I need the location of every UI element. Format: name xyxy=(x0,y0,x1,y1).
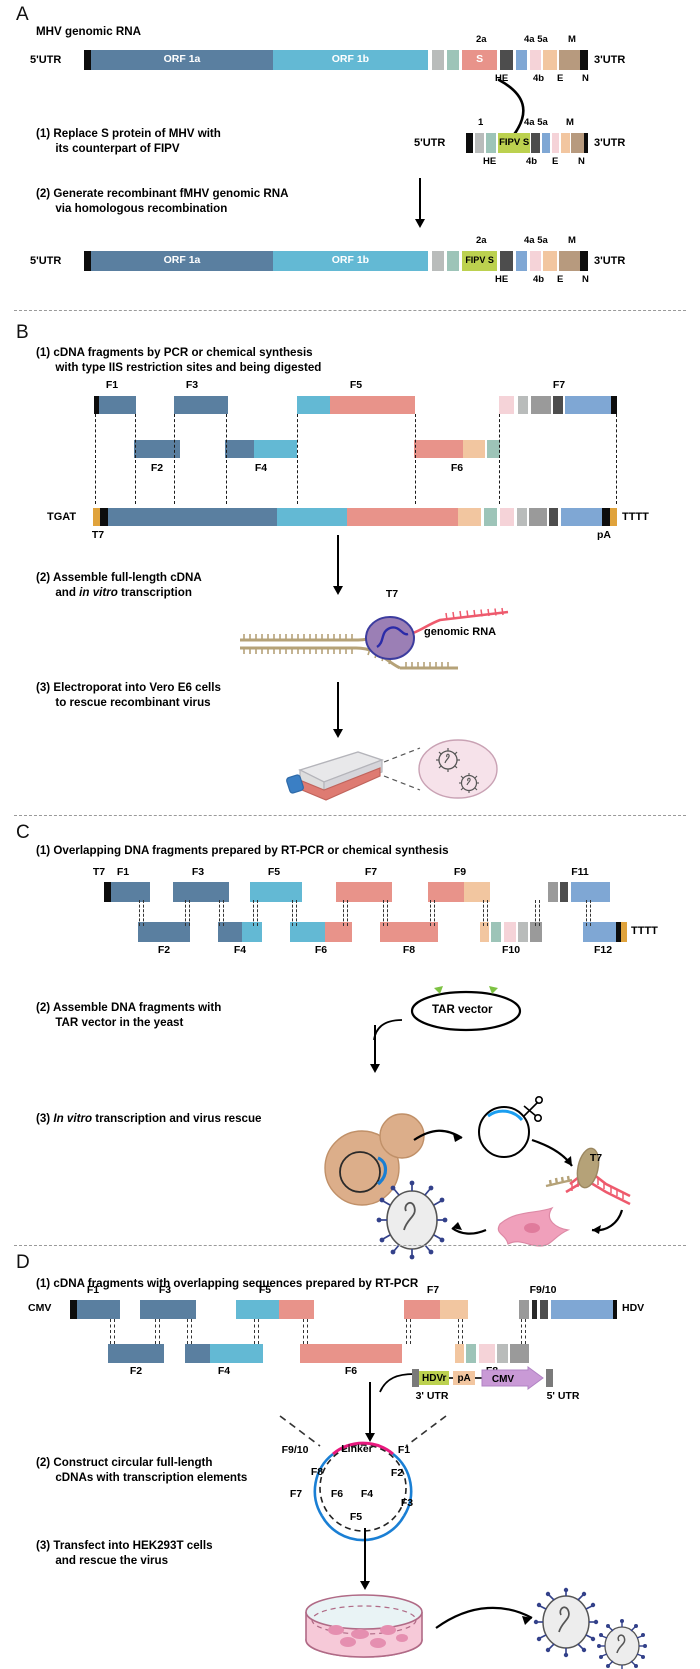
c-overlap-dash xyxy=(483,900,484,926)
c-overlap-dash xyxy=(343,900,344,926)
a-top-utr5: 5'UTR xyxy=(30,54,61,66)
figure-root: A MHV genomic RNA 5'UTR ORF 1a ORF 1b S … xyxy=(0,0,700,1669)
a-fipv-gene-m: M xyxy=(566,117,574,128)
d-overlap-dash xyxy=(254,1319,255,1344)
c-label-f10: F10 xyxy=(497,944,525,956)
b-arrow1-line xyxy=(337,535,339,587)
c-frag-f11 xyxy=(548,882,610,902)
panel-letter-c: C xyxy=(16,822,30,844)
d-circle-f2: F2 xyxy=(386,1467,408,1479)
d-virion-icon xyxy=(534,1588,598,1657)
c-overlap-dash xyxy=(434,900,435,926)
d-overlap-dash xyxy=(458,1319,459,1344)
a-top-utr3: 3'UTR xyxy=(594,54,625,66)
d-overlap-dash xyxy=(303,1319,304,1344)
d-circle-f6: F6 xyxy=(326,1488,348,1500)
a-fipv-gene-he: HE xyxy=(483,156,496,167)
c-overlap-dash xyxy=(223,900,224,926)
d-frag-f9-10 xyxy=(519,1300,617,1319)
b-digest-line xyxy=(415,414,416,504)
c-frag-f5 xyxy=(250,882,302,902)
b-flask-cells-diagram xyxy=(272,738,502,802)
a-bot-gene-e: E xyxy=(557,274,563,285)
c-overlap-dash xyxy=(383,900,384,926)
d-arrow2-line xyxy=(364,1528,366,1582)
a-fipv-s-label: FIPV S xyxy=(498,137,529,148)
a-bot-fipv-s-label: FIPV S xyxy=(462,255,497,265)
c-label-f6: F6 xyxy=(308,944,334,956)
c-overlap-dash xyxy=(185,900,186,926)
d-cassette-3utr: 3' UTR xyxy=(409,1390,455,1402)
b-arrow1-head xyxy=(333,586,343,595)
panel-b-step1: (1) cDNA fragments by PCR or chemical sy… xyxy=(36,345,321,375)
a-bot-gene-he: HE xyxy=(495,274,508,285)
a-bot-gene-4b: 4b xyxy=(533,274,544,285)
c-overlap-dash xyxy=(387,900,388,926)
c-overlap-dash xyxy=(143,900,144,926)
d-label-f7: F7 xyxy=(420,1284,446,1296)
b-tgat-label: TGAT xyxy=(47,511,76,523)
a-fipv-utr5: 5'UTR xyxy=(414,137,445,149)
d-label-f4: F4 xyxy=(211,1365,237,1377)
b-fulllength-cdna xyxy=(93,508,617,526)
a-genome-bar-top: ORF 1a ORF 1b S xyxy=(84,50,588,70)
c-overlap-dash xyxy=(430,900,431,926)
d-overlap-dash xyxy=(155,1319,156,1344)
a-gene-n: N xyxy=(582,73,589,84)
d-circle-f9-10: F9/10 xyxy=(275,1444,315,1456)
a-fipv-bar: FIPV S xyxy=(466,133,588,153)
d-cmv-label: CMV xyxy=(28,1302,51,1314)
d-overlap-dash xyxy=(307,1319,308,1344)
c-overlap-dash xyxy=(535,900,536,926)
b-digest-line xyxy=(95,414,96,504)
a-gene-m: M xyxy=(568,34,576,45)
a-fipv-utr3: 3'UTR xyxy=(594,137,625,149)
b-step2-line2a: and xyxy=(36,586,79,599)
panel-c-step3: (3) In vitro transcription and virus res… xyxy=(36,1111,262,1126)
c-step3-italic: In vitro xyxy=(53,1112,92,1125)
c-label-f3: F3 xyxy=(185,866,211,878)
a-fipv-gene-4a-5a: 4a 5a xyxy=(524,117,548,128)
d-frag-f5 xyxy=(236,1300,314,1319)
b-label-f5: F5 xyxy=(341,379,371,391)
d-label-f2: F2 xyxy=(123,1365,149,1377)
d-cmv-arrow-label: CMV xyxy=(492,1374,515,1385)
d-virion-icon-2 xyxy=(597,1619,647,1669)
c-step3-a: (3) xyxy=(36,1112,53,1125)
host-cell-icon xyxy=(498,1208,568,1246)
a-gene-2a: 2a xyxy=(476,34,487,45)
d-dish-virus-diagram xyxy=(300,1590,640,1664)
d-frag-f2 xyxy=(108,1344,164,1363)
a-swap-curve xyxy=(495,78,565,140)
c-label-f9: F9 xyxy=(447,866,473,878)
a-down-arrow-line xyxy=(419,178,421,220)
a-down-arrow-head xyxy=(415,219,425,228)
a-bot-gene-2a: 2a xyxy=(476,235,487,246)
d-circle-f3: F3 xyxy=(396,1497,418,1509)
a-fipv-gene-1: 1 xyxy=(478,117,483,128)
c-overlap-dash xyxy=(189,900,190,926)
panel-d-step2: (2) Construct circular full-length cDNAs… xyxy=(36,1455,247,1485)
infected-cell-icon xyxy=(419,740,497,798)
b-t7-label: T7 xyxy=(86,529,110,541)
c-tar-curve xyxy=(360,1012,410,1042)
c-label-f7: F7 xyxy=(358,866,384,878)
scissors-icon xyxy=(524,1097,542,1121)
c-t7-label: T7 xyxy=(88,866,110,878)
a-bot-orf1b-label: ORF 1b xyxy=(273,254,429,266)
divider-a-b xyxy=(14,310,686,311)
d-label-f9-10: F9/10 xyxy=(522,1284,564,1296)
d-overlap-dash xyxy=(191,1319,192,1344)
panel-b-step3: (3) Electroporat into Vero E6 cells to r… xyxy=(36,680,221,710)
d-pa-box: pA xyxy=(453,1371,474,1385)
panel-letter-a: A xyxy=(16,4,29,26)
c-overlap-dash xyxy=(257,900,258,926)
c-overlap-dash xyxy=(296,900,297,926)
c-overlap-dash xyxy=(539,900,540,926)
d-label-f1: F1 xyxy=(80,1284,106,1296)
c-tttt-label: TTTT xyxy=(631,925,658,937)
c-frag-f7 xyxy=(336,882,392,902)
c-frag-f10 xyxy=(480,922,542,942)
c-label-f8: F8 xyxy=(396,944,422,956)
b-frag-f5 xyxy=(297,396,415,414)
d-overlap-dash xyxy=(525,1319,526,1344)
plasmid-icon xyxy=(479,1097,542,1157)
d-circle-f7: F7 xyxy=(285,1488,307,1500)
a-fipv-gene-n: N xyxy=(578,156,585,167)
c-overlap-dash xyxy=(253,900,254,926)
panel-a-step2: (2) Generate recombinant fMHV genomic RN… xyxy=(36,186,289,216)
b-label-f4: F4 xyxy=(246,462,276,474)
t7-polymerase-icon xyxy=(366,617,414,659)
c-frag-f4 xyxy=(218,922,262,942)
c-tar-vector-label: TAR vector xyxy=(432,1003,493,1018)
d-circle-f8: F8 xyxy=(306,1466,328,1478)
d-overlap-dash xyxy=(258,1319,259,1344)
b-pa-label: pA xyxy=(592,529,616,541)
c-overlap-dash xyxy=(590,900,591,926)
c-step3-b: transcription and virus rescue xyxy=(92,1112,261,1125)
d-overlap-dash xyxy=(462,1319,463,1344)
d-circle-f5: F5 xyxy=(345,1511,367,1523)
c-label-f12: F12 xyxy=(589,944,617,956)
b-step2-line1: (2) Assemble full-length cDNA xyxy=(36,571,202,584)
b-label-f1: F1 xyxy=(97,379,127,391)
c-label-f11: F11 xyxy=(565,866,595,878)
b-tttt-label: TTTT xyxy=(622,511,649,523)
c-label-f1: F1 xyxy=(110,866,136,878)
c-overlap-dash xyxy=(219,900,220,926)
a-bot-gene-m: M xyxy=(568,235,576,246)
b-frag-f1 xyxy=(94,396,136,414)
a-fipv-gene-e: E xyxy=(552,156,558,167)
d-overlap-dash xyxy=(159,1319,160,1344)
c-t7-poly-label: T7 xyxy=(584,1152,608,1164)
b-digest-line xyxy=(135,414,136,504)
c-overlap-dash xyxy=(586,900,587,926)
d-frag-f7 xyxy=(404,1300,468,1319)
b-arrow2-head xyxy=(333,729,343,738)
d-overlap-dash xyxy=(110,1319,111,1344)
d-cassette-5utr: 5' UTR xyxy=(540,1390,586,1402)
a-bot-orf1a-label: ORF 1a xyxy=(91,254,272,266)
b-label-f3: F3 xyxy=(177,379,207,391)
a-spike-label: S xyxy=(462,53,497,65)
d-hdv-label: HDV xyxy=(622,1302,644,1314)
a-fipv-gene-4b: 4b xyxy=(526,156,537,167)
c-overlap-dash xyxy=(487,900,488,926)
panel-c-step2: (2) Assemble DNA fragments with TAR vect… xyxy=(36,1000,221,1030)
c-label-f4: F4 xyxy=(227,944,253,956)
d-overlap-dash xyxy=(187,1319,188,1344)
b-label-f6: F6 xyxy=(442,462,472,474)
c-overlap-dash xyxy=(347,900,348,926)
d-overlap-dash xyxy=(410,1319,411,1344)
d-frag-f6 xyxy=(300,1344,402,1363)
c-arrow1-head xyxy=(370,1064,380,1073)
b-frag-f7 xyxy=(499,396,617,414)
a-orf1a-label: ORF 1a xyxy=(91,53,272,65)
d-overlap-dash xyxy=(521,1319,522,1344)
a-orf1b-label: ORF 1b xyxy=(273,53,429,65)
c-overlap-dash xyxy=(139,900,140,926)
d-overlap-dash xyxy=(406,1319,407,1344)
c-label-f5: F5 xyxy=(261,866,287,878)
b-genomic-rna-label: genomic RNA xyxy=(424,625,496,640)
d-frag-f8 xyxy=(455,1344,529,1363)
d-circle-linker-label: Linker xyxy=(334,1443,380,1455)
divider-c-d xyxy=(14,1245,686,1246)
a-gene-4a-5a: 4a 5a xyxy=(524,34,548,45)
b-arrow2-line xyxy=(337,682,339,730)
d-label-f6: F6 xyxy=(338,1365,364,1377)
zoom-callout-lines xyxy=(384,748,420,790)
culture-dish-icon xyxy=(306,1595,422,1657)
b-digest-line xyxy=(226,414,227,504)
d-overlap-dash xyxy=(114,1319,115,1344)
a-bot-gene-n: N xyxy=(582,274,589,285)
b-digest-line xyxy=(174,414,175,504)
d-cmv-arrow-icon: CMV xyxy=(482,1367,544,1389)
d-circle-f4: F4 xyxy=(356,1488,378,1500)
d-frag-f4 xyxy=(185,1344,263,1363)
c-frag-f1 xyxy=(104,882,150,902)
divider-b-c xyxy=(14,815,686,816)
panel-letter-d: D xyxy=(16,1252,30,1274)
b-digest-line xyxy=(297,414,298,504)
panel-c-step1: (1) Overlapping DNA fragments prepared b… xyxy=(36,843,449,858)
d-label-f3: F3 xyxy=(152,1284,178,1296)
b-label-f7: F7 xyxy=(543,379,575,391)
b-step2-italic: in vitro xyxy=(79,586,118,599)
b-frag-f4 xyxy=(225,440,297,458)
c-overlap-dash xyxy=(292,900,293,926)
c-label-f2: F2 xyxy=(151,944,177,956)
d-circle-f1: F1 xyxy=(393,1444,415,1456)
culture-flask-icon xyxy=(286,752,382,800)
a-genome-bar-bottom: ORF 1a ORF 1b FIPV S xyxy=(84,251,588,271)
b-label-f2: F2 xyxy=(142,462,172,474)
c-frag-f3 xyxy=(173,882,229,902)
b-frag-f3 xyxy=(174,396,228,414)
a-bot-utr5: 5'UTR xyxy=(30,255,61,267)
b-frag-f6 xyxy=(414,440,500,458)
d-frag-f3 xyxy=(140,1300,196,1319)
panel-d-step3: (3) Transfect into HEK293T cells and res… xyxy=(36,1538,213,1568)
d-label-f5: F5 xyxy=(252,1284,278,1296)
d-arrow2-head xyxy=(360,1581,370,1590)
d-hdvr-box: HDVr xyxy=(419,1371,449,1385)
c-frag-f2 xyxy=(138,922,190,942)
a-bot-gene-4a-5a: 4a 5a xyxy=(524,235,548,246)
a-bot-utr3: 3'UTR xyxy=(594,255,625,267)
b-digest-line xyxy=(499,414,500,504)
d-transcription-cassette: HDVr pA CMV xyxy=(412,1367,553,1389)
b-digest-line xyxy=(616,414,617,504)
panel-a-step1: (1) Replace S protein of MHV with its co… xyxy=(36,126,221,156)
panel-letter-b: B xyxy=(16,322,29,344)
d-frag-f1 xyxy=(70,1300,120,1319)
panel-a-title: MHV genomic RNA xyxy=(36,24,141,39)
b-step2-line2b: transcription xyxy=(118,586,192,599)
panel-b-step2: (2) Assemble full-length cDNA and in vit… xyxy=(36,570,202,600)
c-frag-f9 xyxy=(428,882,490,902)
